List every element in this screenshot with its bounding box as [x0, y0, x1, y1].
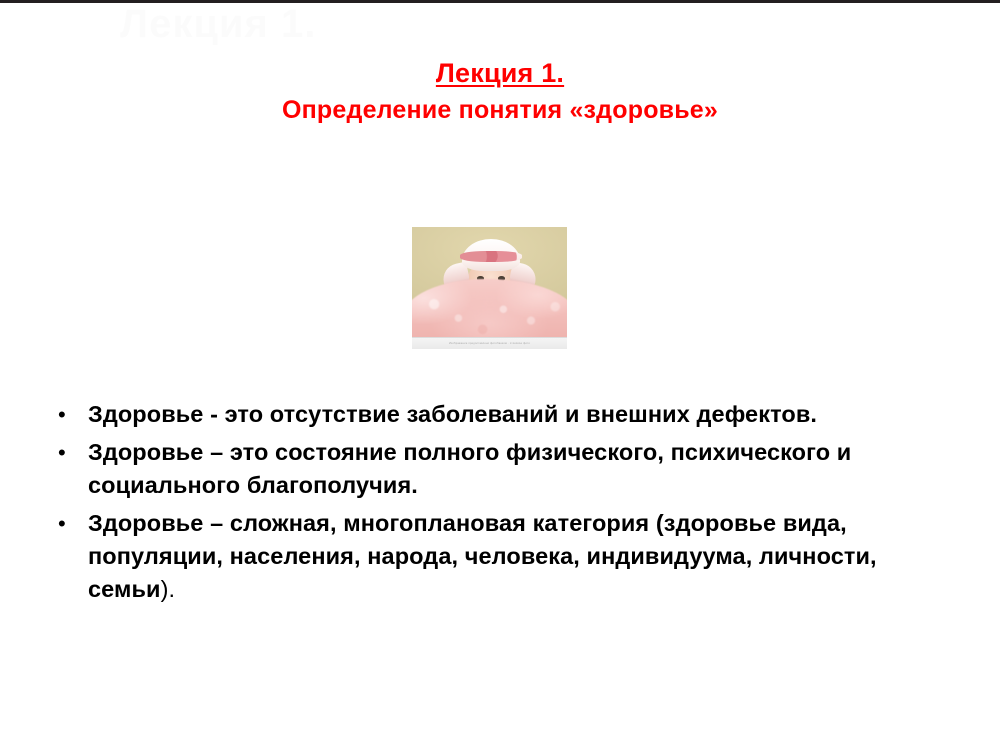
photo-caption-text: Изображение предоставлено фотобанком · с… [449, 342, 530, 345]
bullet-text-main: Здоровье - это отсутствие заболеваний и … [88, 401, 817, 427]
slide-watermark: Лекция 1. [120, 2, 420, 48]
photo-backdrop [412, 227, 567, 349]
bullet-text-main: Здоровье – это состояние полного физичес… [88, 439, 851, 498]
bullet-text: Здоровье - это отсутствие заболеваний и … [88, 398, 942, 431]
bullet-list: • Здоровье - это отсутствие заболеваний … [52, 398, 942, 611]
page-subtitle: Определение понятия «здоровье» [0, 95, 1000, 125]
bullet-text: Здоровье – сложная, многоплановая катего… [88, 507, 942, 606]
title-block: Лекция 1. Определение понятия «здоровье» [0, 58, 1000, 125]
bullet-marker-icon: • [52, 436, 88, 469]
bullet-marker-icon: • [52, 507, 88, 540]
list-item: • Здоровье – это состояние полного физич… [52, 436, 942, 502]
page-title: Лекция 1. [436, 58, 564, 90]
presentation-slide: Лекция 1. Лекция 1. Определение понятия … [0, 0, 1000, 751]
photo-caption-bar: Изображение предоставлено фотобанком · с… [412, 337, 567, 349]
bullet-marker-icon: • [52, 398, 88, 431]
hat-floral-band [460, 251, 522, 262]
bullet-text-main: Здоровье – сложная, многоплановая катего… [88, 510, 877, 602]
list-item: • Здоровье – сложная, многоплановая кате… [52, 507, 942, 606]
slide-top-rule [0, 0, 1000, 3]
baby-photo: Изображение предоставлено фотобанком · с… [412, 227, 567, 349]
bullet-text-tail: ). [161, 576, 176, 602]
list-item: • Здоровье - это отсутствие заболеваний … [52, 398, 942, 431]
pink-blanket [412, 279, 567, 342]
bullet-text: Здоровье – это состояние полного физичес… [88, 436, 942, 502]
